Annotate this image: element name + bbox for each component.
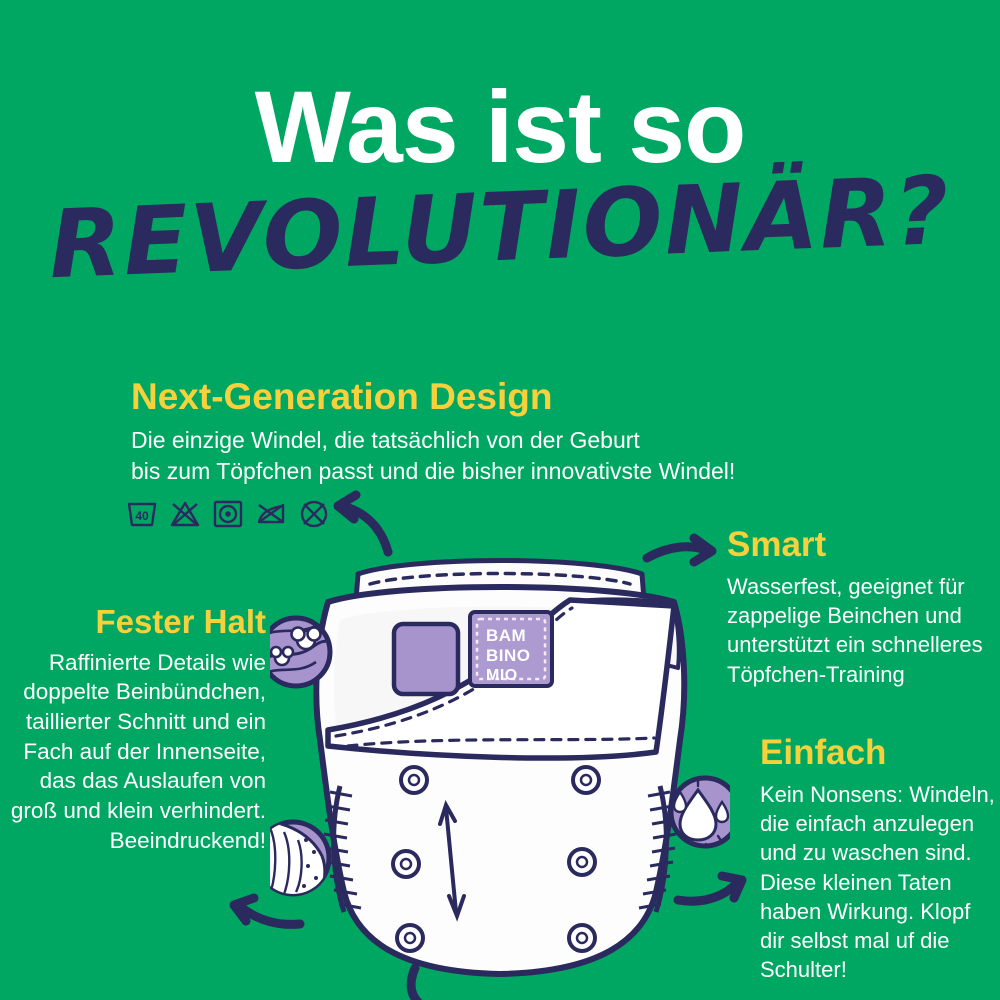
section-title-einfach: Einfach (760, 735, 1000, 772)
section-smart: Smart Wasserfest, geeignet für zappelige… (727, 527, 989, 689)
care-symbols-row: 40 (126, 499, 330, 529)
section-title-next-generation-design: Next-Generation Design (131, 378, 831, 417)
section-body-next-generation-design-line-1: Die einzige Windel, die tatsächlich von … (131, 425, 831, 456)
section-body-smart: Wasserfest, geeignet für zappelige Beinc… (727, 572, 989, 689)
section-next-generation-design: Next-Generation Design Die einzige Winde… (131, 378, 831, 487)
section-title-smart: Smart (727, 527, 989, 564)
snap-button (569, 925, 595, 951)
snap-button (569, 849, 595, 875)
infographic-poster: Was ist so REVOLUTIONÄR? Next-Generation… (0, 0, 1000, 1000)
do-not-iron-icon (255, 499, 287, 529)
section-body-einfach: Kein Nonsens: Windeln, die einfach anzul… (760, 780, 1000, 985)
snap-button (397, 925, 423, 951)
do-not-dry-clean-icon (298, 499, 330, 529)
snap-button (393, 851, 419, 877)
do-not-bleach-icon (169, 499, 201, 529)
diaper-illustration: BAM BINO MIO (270, 540, 730, 1000)
snap-button (573, 767, 599, 793)
section-title-fester-halt: Fester Halt (10, 605, 266, 640)
snap-button (401, 767, 427, 793)
brand-label-line-1: BAM (486, 626, 526, 645)
brand-label-line-3: MIO (486, 667, 518, 684)
tumble-dry-low-icon (212, 499, 244, 529)
wash-temperature-label: 40 (135, 509, 149, 523)
waterproof-badge (671, 778, 730, 850)
section-body-fester-halt: Raffinierte Details wie doppelte Beinbün… (10, 648, 266, 856)
headline-line-2: REVOLUTIONÄR? (0, 163, 1000, 295)
brand-label-line-2: BINO (486, 646, 531, 665)
elastic-cuff-badge (270, 821, 329, 900)
brand-label-patch: BAM BINO MIO (470, 612, 552, 686)
diaper-velcro-tab (394, 624, 458, 694)
section-body-next-generation-design-line-2: bis zum Töpfchen passt und die bisher in… (131, 456, 831, 487)
section-fester-halt: Fester Halt Raffinierte Details wie dopp… (10, 605, 266, 855)
wash-40-icon: 40 (126, 499, 158, 529)
section-einfach: Einfach Kein Nonsens: Windeln, die einfa… (760, 735, 1000, 985)
